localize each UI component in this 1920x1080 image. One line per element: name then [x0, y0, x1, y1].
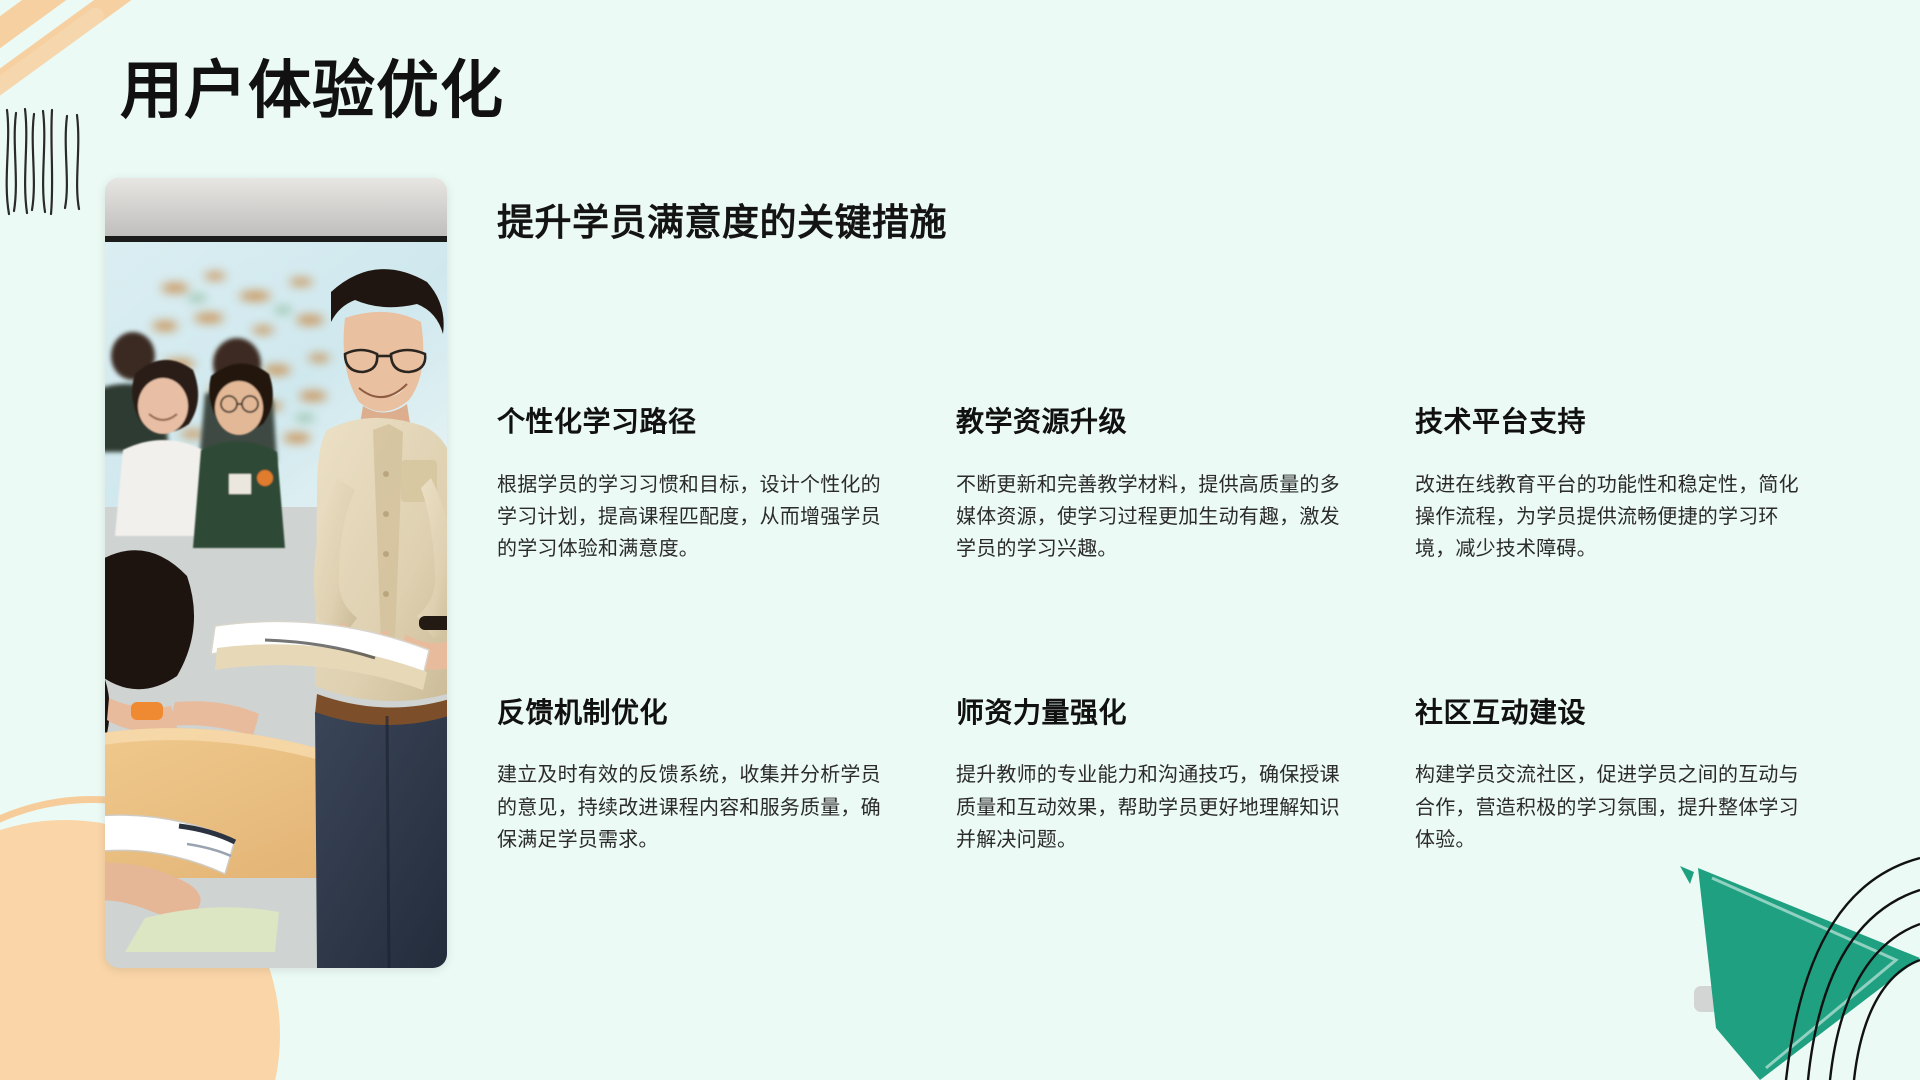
feature-title: 师资力量强化 [956, 696, 1373, 730]
feature-body: 构建学员交流社区，促进学员之间的互动与合作，营造积极的学习氛围，提升整体学习体验… [1415, 759, 1815, 856]
concentric-arc-lines-icon [1786, 858, 1920, 1080]
feature-title: 社区互动建设 [1415, 696, 1832, 730]
feature-item-tech-platform-support: 技术平台支持 改进在线教育平台的功能性和稳定性，简化操作流程，为学员提供流畅便捷… [1415, 405, 1832, 566]
feature-body: 不断更新和完善教学材料，提供高质量的多媒体资源，使学习过程更加生动有趣，激发学员… [956, 469, 1356, 566]
feature-title: 技术平台支持 [1415, 405, 1832, 439]
feature-item-teaching-resource-upgrade: 教学资源升级 不断更新和完善教学材料，提供高质量的多媒体资源，使学习过程更加生动… [956, 405, 1373, 566]
green-brush-triangle-icon [1680, 866, 1920, 1080]
ink-scribble-lines-icon [0, 108, 94, 218]
features-grid: 个性化学习路径 根据学员的学习习惯和目标，设计个性化的学习计划，提高课程匹配度，… [497, 405, 1832, 857]
corner-decoration [1620, 820, 1920, 1080]
feature-body: 提升教师的专业能力和沟通技巧，确保授课质量和互动效果，帮助学员更好地理解知识并解… [956, 759, 1356, 856]
gray-rounded-chip-icon [1694, 986, 1724, 1012]
feature-body: 建立及时有效的反馈系统，收集并分析学员的意见，持续改进课程内容和服务质量，确保满… [497, 759, 897, 856]
feature-title: 教学资源升级 [956, 405, 1373, 439]
feature-body: 根据学员的学习习惯和目标，设计个性化的学习计划，提高课程匹配度，从而增强学员的学… [497, 469, 897, 566]
page-title: 用户体验优化 [120, 57, 504, 126]
feature-item-feedback-mechanism-optimization: 反馈机制优化 建立及时有效的反馈系统，收集并分析学员的意见，持续改进课程内容和服… [497, 696, 914, 857]
feature-item-faculty-strengthening: 师资力量强化 提升教师的专业能力和沟通技巧，确保授课质量和互动效果，帮助学员更好… [956, 696, 1373, 857]
feature-title: 个性化学习路径 [497, 405, 914, 439]
feature-item-community-interaction: 社区互动建设 构建学员交流社区，促进学员之间的互动与合作，营造积极的学习氛围，提… [1415, 696, 1832, 857]
classroom-photo [105, 178, 447, 968]
feature-title: 反馈机制优化 [497, 696, 914, 730]
slide-canvas: 用户体验优化 [0, 0, 1920, 1080]
feature-item-personalized-learning-path: 个性化学习路径 根据学员的学习习惯和目标，设计个性化的学习计划，提高课程匹配度，… [497, 405, 914, 566]
feature-body: 改进在线教育平台的功能性和稳定性，简化操作流程，为学员提供流畅便捷的学习环境，减… [1415, 469, 1815, 566]
section-subtitle: 提升学员满意度的关键措施 [497, 192, 947, 246]
